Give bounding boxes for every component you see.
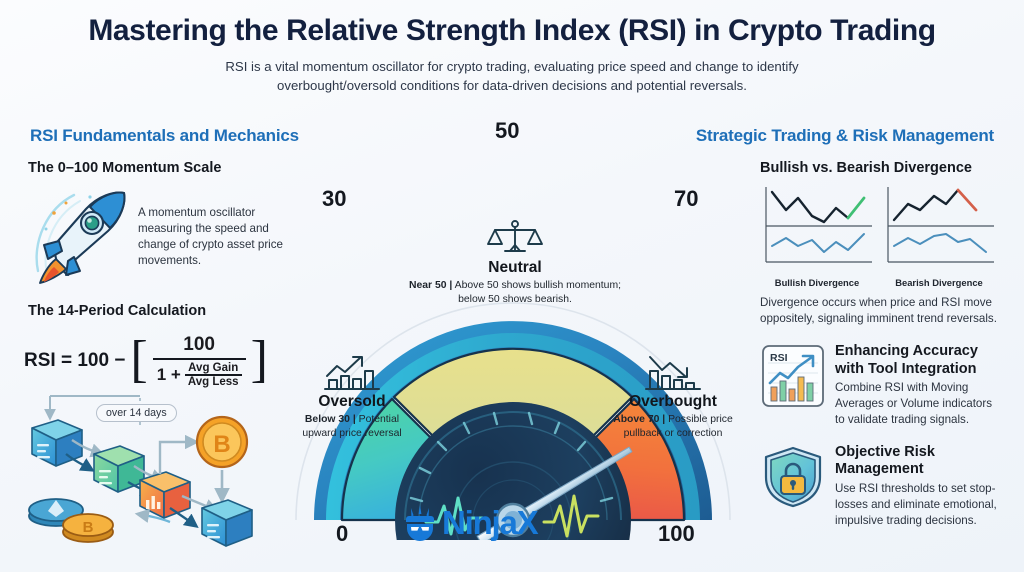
bullish-divergence-chart [760, 184, 874, 270]
feature-body-tool-integration: Combine RSI with Moving Averages or Volu… [835, 380, 998, 428]
divergence-title: Bullish vs. Bearish Divergence [760, 160, 998, 177]
feature-body-risk-management: Use RSI thresholds to set stop-losses an… [835, 481, 998, 529]
bullish-divergence-caption: Bullish Divergence [760, 277, 874, 288]
gauge-tick-0: 0 [336, 521, 348, 547]
right-column: Bullish vs. Bearish Divergence Bullish D… [760, 160, 998, 529]
rsi-gauge [278, 120, 748, 540]
bearish-divergence-caption: Bearish Divergence [882, 277, 996, 288]
divergence-charts: Bullish Divergence Bearish Divergence [760, 184, 998, 288]
btc-coin-small: B [63, 514, 113, 542]
bearish-divergence-chart [882, 184, 996, 270]
formula-one-plus: 1 + [157, 365, 181, 385]
formula-lhs: RSI = 100 − [24, 350, 125, 372]
calculation-title: The 14-Period Calculation [28, 303, 206, 320]
svg-text:B: B [83, 519, 94, 536]
rsi-chart-icon: RSI [760, 343, 826, 409]
formula-bracket-right: ] [251, 339, 268, 382]
bitcoin-coin-top: B [197, 417, 247, 467]
feature-risk-management: Objective Risk Management Use RSI thresh… [760, 444, 998, 529]
formula-denominator: 1 + Avg Gain Avg Less [153, 362, 246, 388]
ninja-mask-icon [400, 503, 440, 543]
gauge-tick-50: 50 [495, 118, 519, 144]
svg-text:B: B [213, 431, 230, 458]
divergence-body: Divergence occurs when price and RSI mov… [760, 295, 998, 327]
ninjax-logo: NinjaX [400, 503, 538, 543]
formula-fraction: 100 1 + Avg Gain Avg Less [153, 334, 246, 388]
header: Mastering the Relative Strength Index (R… [0, 14, 1024, 95]
gauge-tick-100: 100 [658, 521, 695, 547]
formula-numerator: 100 [175, 334, 223, 356]
momentum-scale-title: The 0–100 Momentum Scale [28, 160, 296, 177]
shield-lock-icon [760, 444, 826, 510]
formula-bracket-left: [ [130, 339, 147, 382]
momentum-scale-body: A momentum oscillator measuring the spee… [138, 183, 288, 269]
rsi-formula: RSI = 100 − [ 100 1 + Avg Gain Avg Less … [24, 334, 268, 388]
gauge-tick-30: 30 [322, 186, 346, 212]
left-column: The 0–100 Momentum Scale A momentum osc [28, 160, 296, 287]
crypto-block-4 [202, 500, 252, 546]
feature-title-tool-integration: Enhancing Accuracy with Tool Integration [835, 343, 998, 378]
logo-text: NinjaX [442, 504, 538, 542]
feature-title-risk-management: Objective Risk Management [835, 444, 998, 479]
formula-avg-gain: Avg Gain [185, 362, 241, 374]
rsi-icon-label: RSI [770, 352, 788, 364]
bullish-divergence-card: Bullish Divergence [760, 184, 874, 288]
page-title: Mastering the Relative Strength Index (R… [0, 14, 1024, 47]
infographic-page: Mastering the Relative Strength Index (R… [0, 0, 1024, 572]
formula-ratio: Avg Gain Avg Less [185, 362, 242, 388]
formula-fraction-bar [153, 358, 246, 360]
over-14-days-pill: over 14 days [96, 404, 177, 422]
bearish-divergence-card: Bearish Divergence [882, 184, 996, 288]
formula-avg-less: Avg Less [185, 376, 242, 388]
momentum-scale-block: A momentum oscillator measuring the spee… [28, 183, 296, 287]
gauge-tick-70: 70 [674, 186, 698, 212]
section-header-left: RSI Fundamentals and Mechanics [30, 126, 299, 146]
page-subtitle: RSI is a vital momentum oscillator for c… [192, 58, 832, 95]
feature-tool-integration: RSI Enhancing Accuracy with Tool Integra… [760, 343, 998, 428]
rocket-icon [28, 183, 132, 287]
